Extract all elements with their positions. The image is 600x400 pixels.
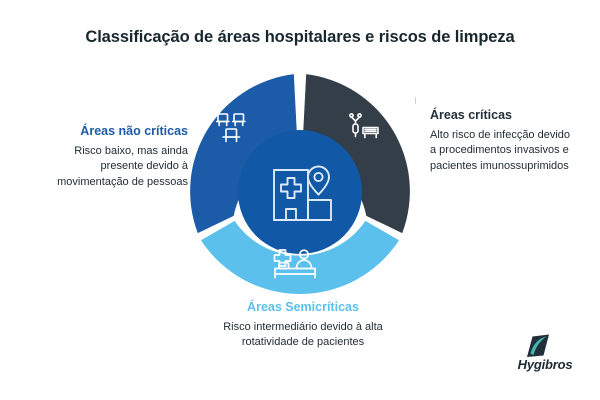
callout-criticas-body: Alto risco de infecção devido a procedim…	[430, 128, 578, 175]
callout-semicriticas-heading: Áreas Semicríticas	[205, 300, 401, 316]
callout-criticas-heading: Áreas críticas	[430, 108, 578, 124]
callout-nao-criticas-heading: Áreas não críticas	[46, 124, 188, 140]
brand-logo: Hygibros	[503, 334, 587, 378]
callout-semicriticas-body: Risco intermediário devido à alta rotati…	[205, 320, 401, 351]
callout-nao-criticas: Áreas não críticas Risco baixo, mas aind…	[46, 124, 188, 190]
page-title: Classificação de áreas hospitalares e ri…	[0, 28, 600, 47]
infographic-canvas: Classificação de áreas hospitalares e ri…	[0, 0, 600, 400]
hygibros-swoosh-mark-icon	[525, 334, 551, 358]
callout-criticas: Áreas críticas Alto risco de infecção de…	[430, 108, 578, 174]
callout-semicriticas: Áreas Semicríticas Risco intermediário d…	[205, 300, 401, 351]
callout-nao-criticas-body: Risco baixo, mas ainda presente devido à…	[46, 144, 188, 191]
donut-diagram	[178, 70, 422, 314]
logo-wordmark: Hygibros	[503, 357, 587, 372]
